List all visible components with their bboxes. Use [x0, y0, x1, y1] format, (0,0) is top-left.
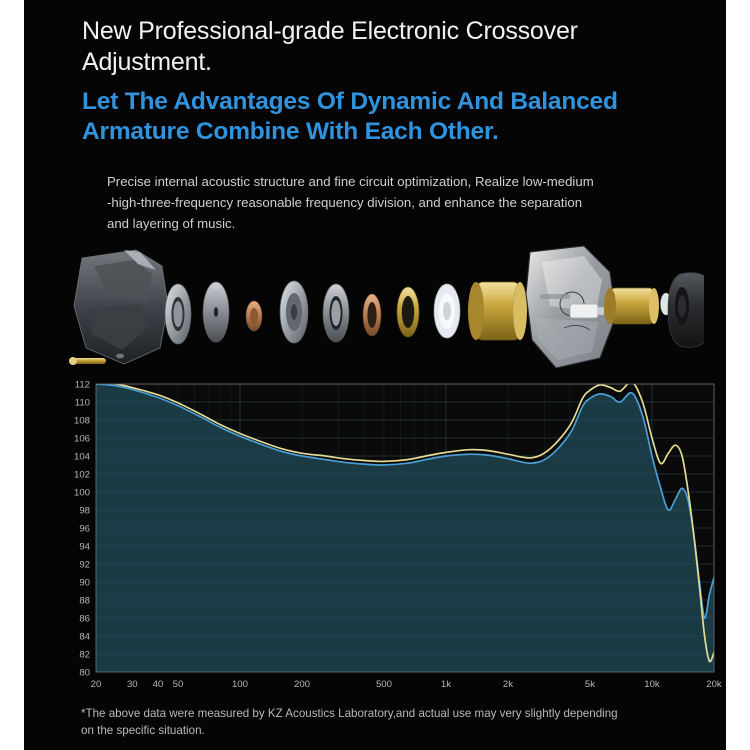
y-tick-label: 88 — [79, 595, 90, 606]
y-tick-label: 92 — [79, 559, 90, 570]
y-tick-label: 108 — [74, 415, 90, 426]
page-title: New Professional-grade Electronic Crosso… — [82, 16, 702, 77]
y-tick-label: 90 — [79, 577, 90, 588]
part-metal-ring — [323, 284, 349, 342]
x-tick-label: 20 — [91, 679, 102, 690]
part-retaining-ring — [165, 284, 191, 344]
y-tick-label: 96 — [79, 523, 90, 534]
x-tick-label: 500 — [376, 679, 392, 690]
product-illustration — [64, 236, 704, 386]
part-faceplate-shell — [74, 250, 168, 364]
part-copper-spacer — [246, 301, 262, 331]
y-tick-label: 80 — [79, 667, 90, 678]
y-tick-label: 102 — [74, 469, 90, 480]
x-tick-label: 30 — [127, 679, 138, 690]
frequency-response-plot: 1121101081061041021009896949290888684828… — [34, 376, 726, 696]
x-axis-tick-labels: 203040501002005001k2k5k10k20k — [91, 679, 722, 690]
part-brass-ring — [397, 287, 419, 337]
x-tick-label: 2k — [503, 679, 513, 690]
y-tick-label: 84 — [79, 631, 90, 642]
y-tick-label: 98 — [79, 505, 90, 516]
page-subtitle: Let The Advantages Of Dynamic And Balanc… — [82, 87, 702, 147]
part-dynamic-driver-plate — [280, 281, 308, 343]
part-gold-pin — [69, 357, 106, 365]
product-exploded-view-image — [64, 236, 704, 386]
content-panel: New Professional-grade Electronic Crosso… — [24, 0, 726, 750]
y-tick-label: 94 — [79, 541, 90, 552]
description-paragraph: Precise internal acoustic structure and … — [107, 172, 707, 235]
part-copper-ring — [363, 294, 381, 336]
y-axis-tick-labels: 1121101081061041021009896949290888684828… — [74, 379, 91, 678]
x-tick-label: 1k — [441, 679, 451, 690]
page-root: New Professional-grade Electronic Crosso… — [0, 0, 750, 750]
headings-block: New Professional-grade Electronic Crosso… — [82, 16, 702, 147]
y-tick-label: 82 — [79, 649, 90, 660]
part-gold-driver-housing — [468, 282, 527, 340]
y-tick-label: 86 — [79, 613, 90, 624]
x-tick-label: 100 — [232, 679, 248, 690]
y-tick-label: 110 — [75, 397, 90, 408]
part-black-eartip — [668, 273, 704, 348]
part-gold-nozzle — [604, 288, 659, 324]
x-tick-label: 200 — [294, 679, 310, 690]
x-tick-label: 5k — [585, 679, 595, 690]
part-magnet-disc — [203, 282, 229, 342]
x-tick-label: 50 — [173, 679, 184, 690]
x-tick-label: 10k — [644, 679, 660, 690]
part-diaphragm-dome — [434, 284, 460, 338]
x-tick-label: 40 — [153, 679, 164, 690]
frequency-response-chart: 1121101081061041021009896949290888684828… — [34, 376, 726, 696]
y-tick-label: 112 — [75, 379, 90, 390]
y-tick-label: 100 — [74, 487, 90, 498]
chart-footnote: *The above data were measured by KZ Acou… — [81, 705, 711, 740]
x-tick-label: 20k — [706, 679, 722, 690]
y-tick-label: 106 — [74, 433, 90, 444]
y-tick-label: 104 — [74, 451, 91, 462]
